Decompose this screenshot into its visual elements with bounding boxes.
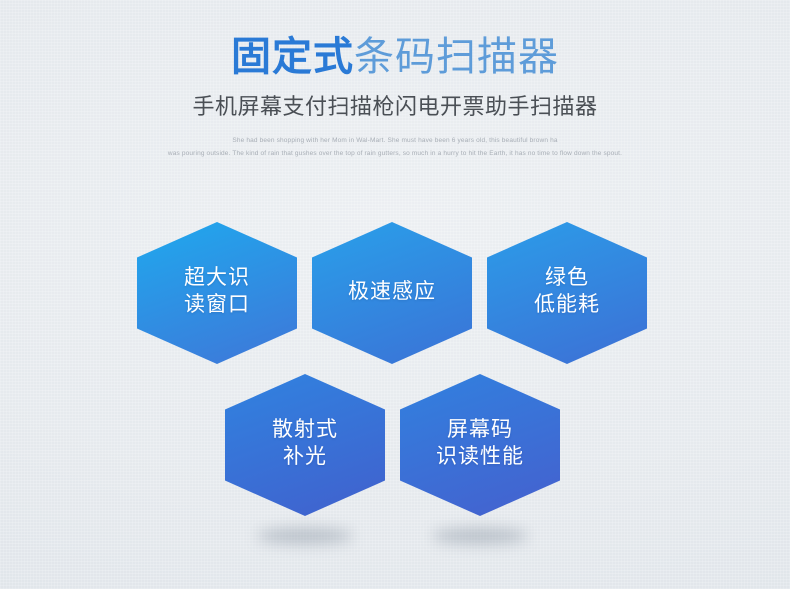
page-title-strong: 固定式	[231, 35, 354, 79]
feature-hexagon-label-line: 绿色	[534, 265, 600, 292]
feature-hexagon-large-reading-window[interactable]: 超大识读窗口	[137, 222, 297, 364]
feature-hexagon-label-line: 读窗口	[184, 292, 250, 319]
page-blurb-line-2: was pouring outside. The kind of rain th…	[130, 148, 660, 161]
feature-hexagon-label-line: 低能耗	[534, 292, 600, 319]
page-header: 固定式条码扫描器 手机屏幕支付扫描枪闪电开票助手扫描器 She had been…	[0, 0, 790, 161]
page-subtitle: 手机屏幕支付扫描枪闪电开票助手扫描器	[0, 89, 790, 121]
feature-hexagon-label-line: 超大识	[184, 265, 250, 292]
feature-hexagon-diffuse-fill-light[interactable]: 散射式补光	[225, 374, 385, 516]
feature-hexagon-label-line: 识读性能	[436, 444, 524, 471]
feature-hexagon-label-line: 屏幕码	[436, 417, 524, 444]
feature-hexagon-label-line: 散射式	[272, 417, 338, 444]
feature-hexagon-label: 极速感应	[348, 279, 436, 308]
hexagon-shadow	[432, 528, 528, 544]
page-blurb-line-1: She had been shopping with her Mom in Wa…	[130, 135, 660, 148]
page-title: 固定式条码扫描器	[0, 34, 790, 80]
feature-hexagon-label: 散射式补光	[272, 417, 338, 473]
feature-hexagon-green-low-power[interactable]: 绿色低能耗	[487, 222, 647, 364]
feature-hexagon-label: 屏幕码识读性能	[436, 417, 524, 473]
promo-page: 固定式条码扫描器 手机屏幕支付扫描枪闪电开票助手扫描器 She had been…	[0, 0, 790, 589]
feature-hexagon-label: 超大识读窗口	[184, 265, 250, 321]
page-title-light: 条码扫描器	[354, 35, 559, 79]
page-blurb: She had been shopping with her Mom in Wa…	[130, 135, 660, 160]
feature-hexagon-label-line: 补光	[272, 444, 338, 471]
feature-hexagon-screen-code-reading[interactable]: 屏幕码识读性能	[400, 374, 560, 516]
feature-hexagon-label: 绿色低能耗	[534, 265, 600, 321]
feature-hexagon-label-line: 极速感应	[348, 279, 436, 306]
hexagon-shadow	[257, 528, 353, 544]
feature-hexagon-fast-sensing[interactable]: 极速感应	[312, 222, 472, 364]
